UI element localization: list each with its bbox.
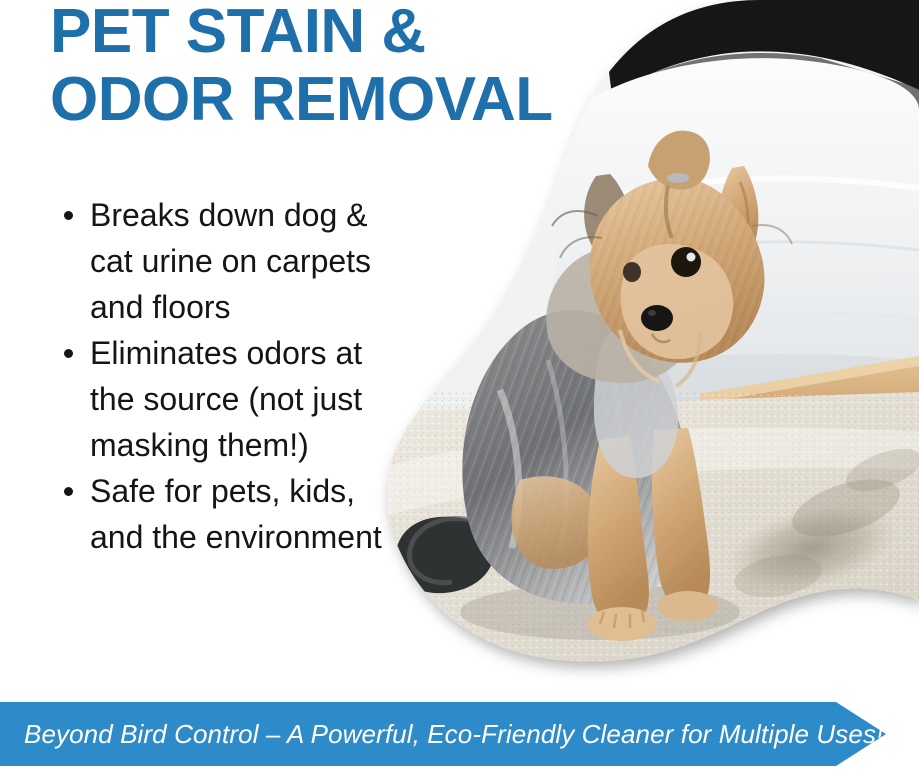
bullet-dot-icon [64,211,73,220]
benefit-text: Breaks down dog & cat urine on carpets a… [90,197,371,325]
headline-line-1: PET STAIN & [50,0,650,66]
tagline-banner: Beyond Bird Control – A Powerful, Eco-Fr… [0,702,919,766]
page-title: PET STAIN & ODOR REMOVAL [50,0,650,134]
headline-line-2: ODOR REMOVAL [50,66,650,134]
list-item: Breaks down dog & cat urine on carpets a… [58,192,388,330]
benefit-text: Eliminates odors at the source (not just… [90,335,362,463]
benefit-text: Safe for pets, kids, and the environment [90,473,382,555]
list-item: Safe for pets, kids, and the environment [58,468,388,560]
bullet-dot-icon [64,349,73,358]
bullet-dot-icon [64,487,73,496]
tagline-text: Beyond Bird Control – A Powerful, Eco-Fr… [24,702,883,766]
benefits-list: Breaks down dog & cat urine on carpets a… [58,192,388,560]
product-infographic: PET STAIN & ODOR REMOVAL Breaks down dog… [0,0,919,775]
list-item: Eliminates odors at the source (not just… [58,330,388,468]
